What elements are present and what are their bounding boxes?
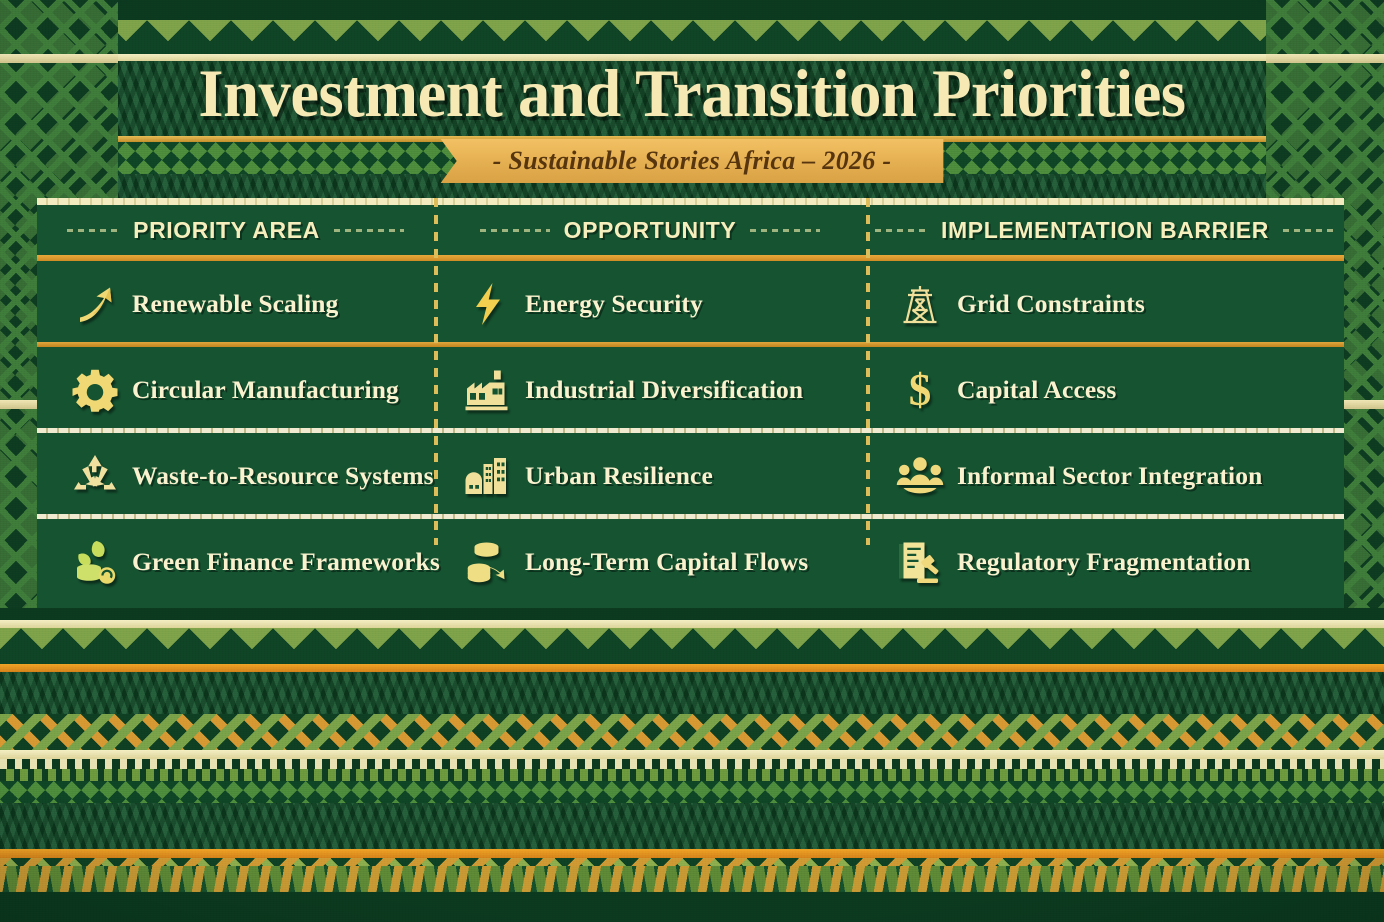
lightning-bolt-icon xyxy=(464,280,512,328)
column-header-label: IMPLEMENTATION BARRIER xyxy=(941,217,1269,244)
cell-barrier: $ Capital Access xyxy=(866,347,1344,433)
header-dash-left xyxy=(67,229,119,232)
cell-priority-area: Circular Manufacturing xyxy=(37,347,434,433)
cell-barrier: Regulatory Fragmentation xyxy=(866,519,1344,605)
top-edge-fill xyxy=(0,0,1384,20)
header-dash-right xyxy=(1283,229,1335,232)
table-row: Renewable Scaling Energy Security Grid C… xyxy=(37,261,1344,347)
table-top-rule xyxy=(37,198,1344,205)
band-triangles xyxy=(0,714,1384,750)
table-row: Green Finance Frameworks Long-Term Capit… xyxy=(37,519,1344,605)
header-dash-right xyxy=(750,229,820,232)
below-table-fill xyxy=(0,608,1384,620)
people-group-icon xyxy=(896,452,944,500)
table-row: Circular Manufacturing Industrial Divers… xyxy=(37,347,1344,433)
cell-label: Waste-to-Resource Systems xyxy=(132,461,434,491)
power-pylon-icon xyxy=(896,280,944,328)
band-texture-1 xyxy=(0,672,1384,714)
band-scallop xyxy=(0,769,1384,781)
cell-priority-area: Waste-to-Resource Systems xyxy=(37,433,434,519)
cell-label: Informal Sector Integration xyxy=(957,461,1262,491)
coins-leaf-icon xyxy=(71,538,119,586)
column-header-opportunity: OPPORTUNITY xyxy=(434,205,866,255)
column-header-implementation-barrier: IMPLEMENTATION BARRIER xyxy=(866,205,1344,255)
band-orange-2 xyxy=(0,849,1384,858)
cell-barrier: Informal Sector Integration xyxy=(866,433,1344,519)
document-gavel-icon xyxy=(896,538,944,586)
column-divider-2 xyxy=(866,198,870,545)
upward-arrow-icon xyxy=(71,280,119,328)
subtitle-ribbon-row: - Sustainable Stories Africa – 2026 - xyxy=(0,139,1384,187)
cell-priority-area: Green Finance Frameworks xyxy=(37,519,434,605)
cell-label: Renewable Scaling xyxy=(132,289,338,319)
factory-icon xyxy=(464,366,512,414)
recycle-icon xyxy=(71,452,119,500)
band-orange-1 xyxy=(0,664,1384,672)
coins-arrow-icon xyxy=(464,538,512,586)
bottom-edge-fill xyxy=(0,892,1384,922)
column-header-priority-area: PRIORITY AREA xyxy=(37,205,434,255)
cell-opportunity: Long-Term Capital Flows xyxy=(434,519,866,605)
cell-opportunity: Industrial Diversification xyxy=(434,347,866,433)
svg-text:$: $ xyxy=(909,366,932,414)
page-title: Investment and Transition Priorities xyxy=(35,58,1350,129)
subtitle-ribbon: - Sustainable Stories Africa – 2026 - xyxy=(441,139,944,183)
dollar-sign-icon: $ xyxy=(896,366,944,414)
header-dash-left xyxy=(875,229,927,232)
cell-label: Regulatory Fragmentation xyxy=(957,547,1250,577)
top-zigzag-band xyxy=(0,20,1384,54)
infographic-canvas: Investment and Transition Priorities - S… xyxy=(0,0,1384,922)
cell-label: Energy Security xyxy=(525,289,703,319)
column-header-label: PRIORITY AREA xyxy=(133,217,320,244)
cell-label: Long-Term Capital Flows xyxy=(525,547,808,577)
cell-label: Industrial Diversification xyxy=(525,375,803,405)
title-block: Investment and Transition Priorities xyxy=(0,58,1384,129)
gear-icon xyxy=(71,366,119,414)
city-buildings-icon xyxy=(464,452,512,500)
cell-label: Capital Access xyxy=(957,375,1116,405)
band-dots-1 xyxy=(0,759,1384,769)
table-header-row: PRIORITY AREA OPPORTUNITY IMPLEMENTATION… xyxy=(37,205,1344,255)
table-body: Renewable Scaling Energy Security Grid C… xyxy=(37,261,1344,608)
band-flame-motif xyxy=(0,866,1384,892)
table-row: Waste-to-Resource Systems Urban Resilien… xyxy=(37,433,1344,519)
cell-barrier: Grid Constraints xyxy=(866,261,1344,347)
header-dash-left xyxy=(480,229,550,232)
header-dash-right xyxy=(334,229,404,232)
cell-label: Grid Constraints xyxy=(957,289,1145,319)
cell-label: Green Finance Frameworks xyxy=(132,547,440,577)
subtitle-text: - Sustainable Stories Africa – 2026 - xyxy=(493,146,892,176)
priorities-table: PRIORITY AREA OPPORTUNITY IMPLEMENTATION… xyxy=(37,198,1344,608)
column-header-label: OPPORTUNITY xyxy=(564,217,737,244)
band-texture-2 xyxy=(0,803,1384,849)
column-divider-1 xyxy=(434,198,438,545)
band-zigzag-1 xyxy=(0,628,1384,664)
band-diamonds-1 xyxy=(0,781,1384,803)
cell-opportunity: Energy Security xyxy=(434,261,866,347)
cell-label: Urban Resilience xyxy=(525,461,713,491)
cell-opportunity: Urban Resilience xyxy=(434,433,866,519)
cell-priority-area: Renewable Scaling xyxy=(37,261,434,347)
band-cream-2 xyxy=(0,750,1384,759)
cell-label: Circular Manufacturing xyxy=(132,375,399,405)
band-cream-1 xyxy=(0,620,1384,628)
